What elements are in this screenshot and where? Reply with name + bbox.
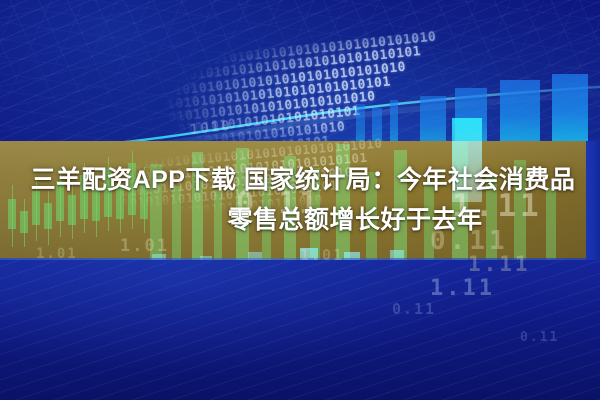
tan-color-band xyxy=(0,141,586,260)
tan-band-sheen xyxy=(0,141,586,260)
tan-band-right-edge xyxy=(586,141,600,260)
bottom-diagonal-lines xyxy=(0,260,600,400)
news-banner-image: 01010101010101010101010101010101010 1010… xyxy=(0,0,600,400)
